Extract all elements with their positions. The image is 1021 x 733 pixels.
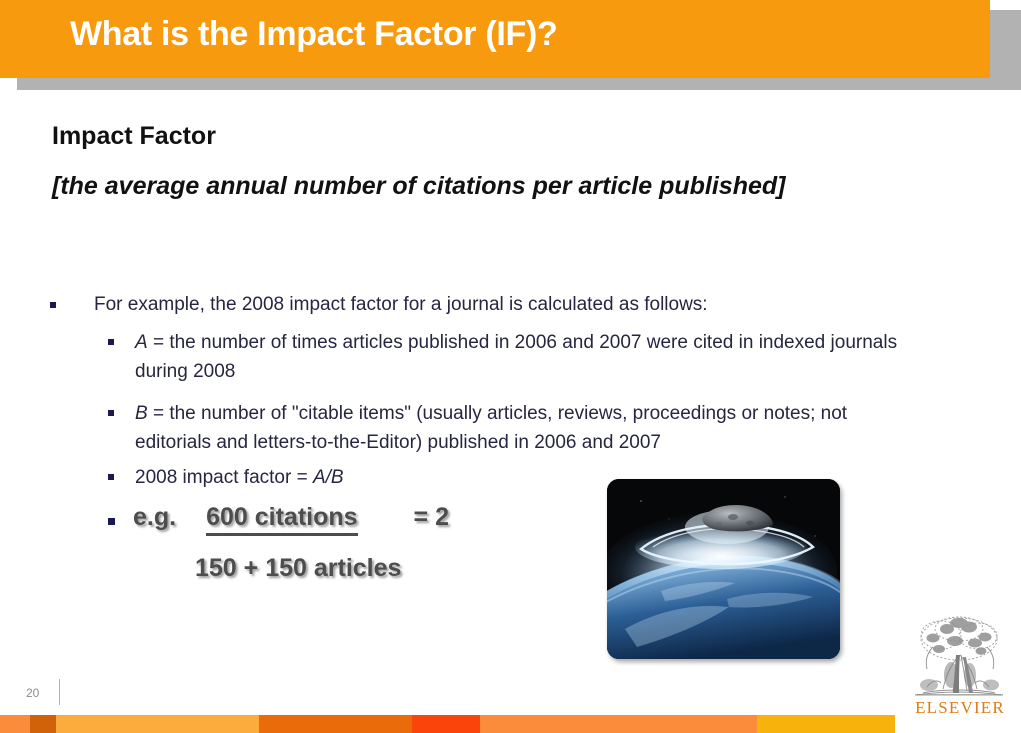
bullet-item-definition-b: B = the number of "citable items" (usual…	[108, 400, 923, 457]
footer-bar-segment-2	[56, 715, 259, 733]
bullet-item-formula: 2008 impact factor = A/B	[108, 464, 528, 493]
footer-bar-segment-4	[412, 715, 480, 733]
equation-label: e.g.	[133, 503, 176, 532]
square-bullet-icon	[108, 339, 114, 345]
footer-bar-segment-5	[480, 715, 757, 733]
page-title: What is the Impact Factor (IF)?	[70, 15, 558, 54]
page-number: 20	[26, 686, 39, 700]
square-bullet-icon	[50, 302, 56, 308]
footer-bar-segment-6	[757, 715, 895, 733]
lead-subheading: [the average annual number of citations …	[52, 172, 785, 201]
variable-b: B	[135, 403, 148, 424]
variable-a: A	[135, 332, 148, 353]
asteroid-impact-svg	[607, 479, 840, 659]
equation-numerator: 600 citations	[206, 503, 357, 536]
lead-heading: Impact Factor	[52, 122, 216, 151]
definition-b-text: = the number of "citable items" (usually…	[135, 403, 847, 453]
bullet-item-definition-a: A = the number of times articles publish…	[108, 329, 918, 386]
square-bullet-icon	[108, 410, 114, 416]
bullet-item-definition-a-label: A = the number of times articles publish…	[135, 329, 918, 386]
footer-bar-segment-7	[895, 715, 1021, 733]
equation-example-block: e.g. 600 citations = 2 150 + 150 article…	[108, 503, 449, 583]
square-bullet-icon	[108, 518, 115, 525]
footer-divider	[59, 679, 60, 705]
bullet-item-example: For example, the 2008 impact factor for …	[50, 291, 930, 319]
bullet-item-formula-label: 2008 impact factor = A/B	[135, 464, 344, 493]
bullet-item-example-label: For example, the 2008 impact factor for …	[94, 291, 708, 319]
formula-text: 2008 impact factor =	[135, 467, 313, 488]
footer-bar-segment-1	[30, 715, 56, 733]
footer-bar-segment-0	[0, 715, 30, 733]
square-bullet-icon	[108, 474, 114, 480]
equation-result: = 2	[414, 503, 449, 532]
footer-bar-segment-3	[259, 715, 412, 733]
equation-body: e.g. 600 citations = 2 150 + 150 article…	[133, 503, 449, 583]
equation-denominator: 150 + 150 articles	[195, 554, 401, 582]
title-banner: What is the Impact Factor (IF)?	[0, 0, 990, 78]
asteroid-impact-earth-illustration	[607, 479, 840, 659]
footer-color-bar	[0, 715, 1021, 733]
bullet-item-definition-b-label: B = the number of "citable items" (usual…	[135, 400, 923, 457]
equation-numerator-row: e.g. 600 citations = 2	[133, 503, 449, 536]
equation-denominator-row: 150 + 150 articles	[195, 554, 449, 583]
formula-variables: A/B	[313, 467, 344, 488]
definition-a-text: = the number of times articles published…	[135, 332, 897, 382]
